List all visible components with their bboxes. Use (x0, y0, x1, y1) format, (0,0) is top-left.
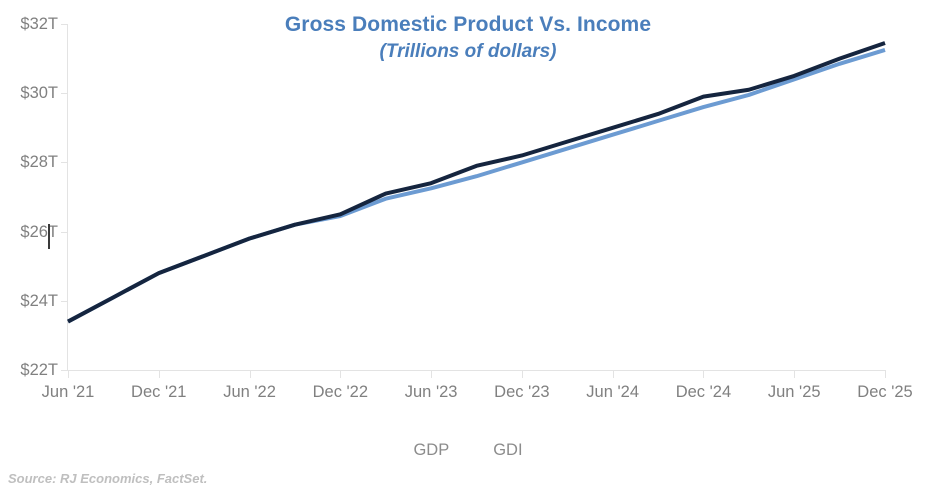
legend-label: GDP (413, 440, 449, 460)
series-line-gdi (68, 50, 885, 322)
source-note: Source: RJ Economics, FactSet. (8, 470, 207, 487)
legend-item-gdi[interactable]: GDI (493, 440, 522, 460)
chart-legend: GDPGDI (0, 440, 936, 460)
series-line-gdp (68, 43, 885, 322)
legend-item-gdp[interactable]: GDP (413, 440, 449, 460)
text-cursor-caret (48, 224, 50, 249)
series-plot (0, 0, 936, 494)
chart-container: Gross Domestic Product Vs. Income (Trill… (0, 0, 936, 494)
legend-label: GDI (493, 440, 522, 460)
